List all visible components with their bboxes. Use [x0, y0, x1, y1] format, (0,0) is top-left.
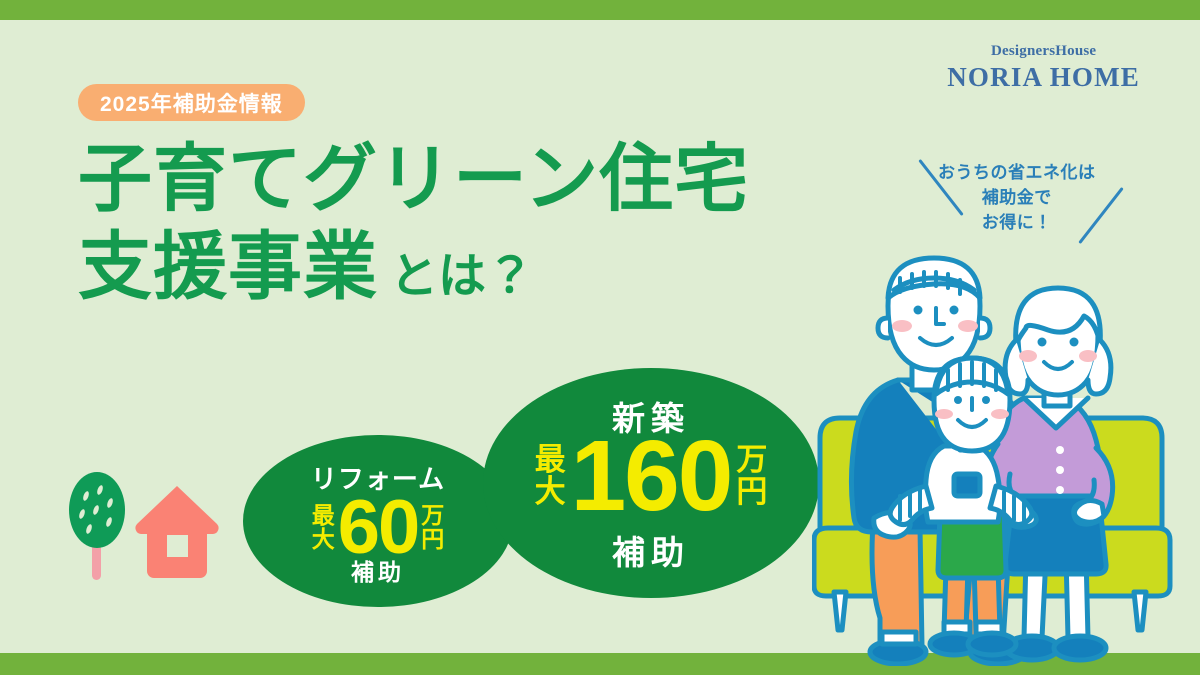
- catch-copy-line2: 補助金で: [938, 185, 1096, 210]
- offer-unit-bottom-reform: 円: [421, 528, 444, 552]
- page-title-tail: とは？: [390, 250, 534, 303]
- brand-logo-sub: DesignersHouse: [947, 44, 1140, 59]
- offer-footer-new-build: 補助: [483, 526, 819, 574]
- family-on-sofa-illustration: [812, 248, 1184, 666]
- offer-unit-top-new-build: 万: [736, 444, 767, 476]
- page-title-line2-wrap: 支援事業とは？: [78, 228, 749, 306]
- offer-unit-reform: 万 円: [421, 504, 444, 552]
- page-title: 子育てグリーン住宅 支援事業とは？: [78, 140, 749, 307]
- offer-unit-top-reform: 万: [421, 504, 444, 528]
- top-green-bar: [0, 0, 1200, 20]
- page-title-line2: 支援事業: [78, 225, 378, 308]
- page-title-line1: 子育てグリーン住宅: [78, 140, 749, 218]
- house-icon: [134, 483, 220, 581]
- tree-icon: [66, 472, 128, 582]
- offer-unit-bottom-new-build: 円: [736, 476, 767, 508]
- offer-max-top-reform: 最: [312, 504, 335, 528]
- catch-copy-line1: おうちの省エネ化は: [938, 160, 1096, 185]
- offer-badge-new-build: 新築 最 大 160 万 円 補助: [483, 368, 819, 598]
- offer-max-label-reform: 最 大: [312, 504, 335, 552]
- offer-amount-row-new-build: 最 大 160 万 円: [483, 430, 819, 522]
- offer-max-top-new-build: 最: [535, 444, 566, 476]
- brand-logo-main: NORIA HOME: [947, 64, 1140, 91]
- brand-logo: DesignersHouse NORIA HOME: [947, 44, 1140, 91]
- offer-badge-reform: リフォーム 最 大 60 万 円 補助: [243, 435, 513, 607]
- offer-unit-new-build: 万 円: [736, 444, 767, 508]
- offer-footer-reform: 補助: [243, 553, 513, 587]
- banner-root: DesignersHouse NORIA HOME 2025年補助金情報 子育て…: [0, 0, 1200, 675]
- offer-max-label-new-build: 最 大: [535, 444, 566, 508]
- catch-copy: おうちの省エネ化は 補助金で お得に！: [938, 160, 1096, 235]
- year-badge: 2025年補助金情報: [78, 84, 305, 121]
- year-badge-label: 2025年補助金情報: [100, 88, 283, 118]
- offer-amount-new-build: 160: [571, 430, 732, 522]
- catch-copy-line3: お得に！: [938, 210, 1096, 235]
- offer-max-bottom-new-build: 大: [535, 476, 566, 508]
- offer-max-bottom-reform: 大: [312, 528, 335, 552]
